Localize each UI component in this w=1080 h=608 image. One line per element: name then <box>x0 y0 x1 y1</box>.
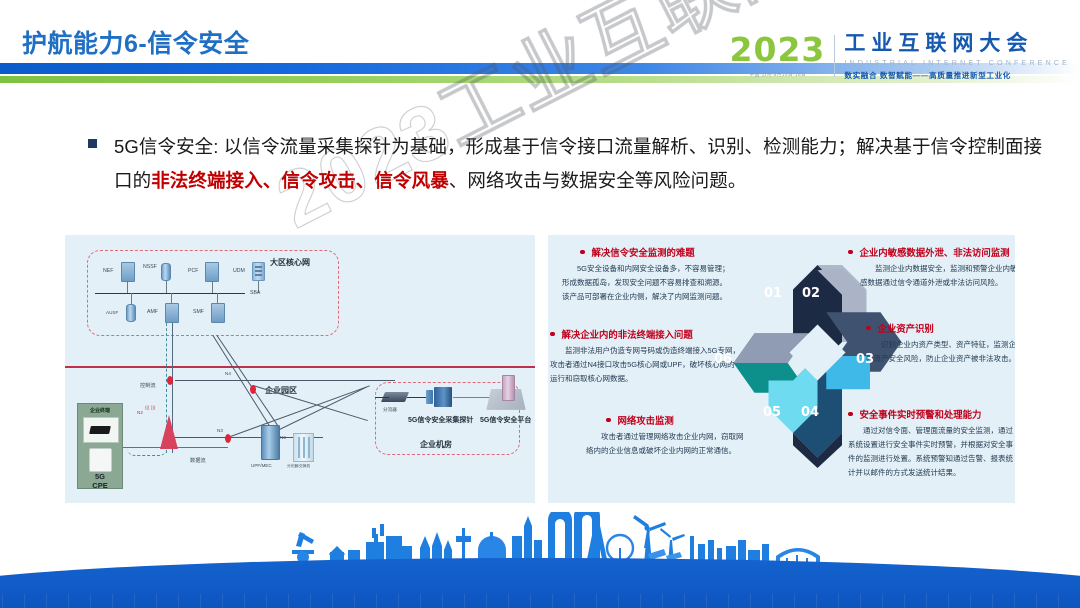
nef-node-icon <box>121 262 135 282</box>
feature-block-03: 企业资产识别 识别企业内资产类型、资产特征，监测企业内资产安全风险，防止企业资产… <box>866 321 1015 366</box>
data-flow-label: 数据流 <box>190 457 206 464</box>
platform-label: 5G信令安全平台 <box>480 415 531 425</box>
feature-05-head: 网络攻击监测 <box>586 413 746 427</box>
amf-bus-link <box>171 293 172 303</box>
logo-year-block: 2023 中国·苏州 8月14日-16日 <box>730 33 835 78</box>
sba-bus-line <box>95 293 245 294</box>
logo-year: 2023 <box>730 33 826 66</box>
pinwheel-number-03: 03 <box>856 352 874 367</box>
feature-02-head: 企业内敏感数据外泄、非法访问监测 <box>848 245 1015 259</box>
splitter-in-link <box>375 397 389 398</box>
footer-base <box>0 558 1080 608</box>
bullet-row: 5G信令安全: 以信令流量采集探针为基础，形成基于信令接口流量解析、识别、检测能… <box>88 130 1048 198</box>
n3-interface-label: N3 <box>217 428 223 433</box>
smf-node-icon <box>211 303 225 323</box>
feature-01-body: 5G安全设备和内网安全设备多，不容易管理；形成数据孤岛，发现安全问题不容易排查和… <box>562 262 730 304</box>
smf-n4-diagonal-link-2 <box>217 335 280 428</box>
bullet-square-icon <box>88 139 97 148</box>
feature-06-title: 解决企业内的非法终端接入问题 <box>562 327 693 341</box>
pinwheel-number-02: 02 <box>802 286 820 301</box>
n4-interface-label: N4 <box>225 371 231 376</box>
feature-block-04: 安全事件实时预警和处理能力 通过对信令面、管理面流量的安全监测，通过系统设置进行… <box>848 407 1015 480</box>
control-flow-label: 控制流 <box>140 382 156 389</box>
probe-device-icon <box>434 387 452 407</box>
nssf-label: NSSF <box>143 265 157 271</box>
feature-block-06: 解决企业内的非法终端接入问题 监测非法用户伪造专网号码或伪造终端接入5G专网，攻… <box>550 327 740 386</box>
pcf-label: PCF <box>188 268 198 274</box>
ausf-bus-link <box>131 293 132 304</box>
logo-separator <box>834 35 835 77</box>
logo-name-cn: 工业互联网大会 <box>844 33 1070 55</box>
bullet-dot-icon <box>848 250 853 255</box>
smf-n4-diagonal-link <box>213 335 272 429</box>
cpe-label: 5GCPE <box>78 473 122 490</box>
amf-node-icon <box>165 303 179 323</box>
upf-mec-label: UPF/MEC <box>251 463 272 468</box>
probe-label: 5G信令安全采集探针 <box>408 415 473 425</box>
bullet-dot-icon <box>606 418 611 423</box>
splitter-label: 分流器 <box>383 407 397 413</box>
feature-05-title: 网络攻击监测 <box>618 413 674 427</box>
bullet-text: 5G信令安全: 以信令流量采集探针为基础，形成基于信令接口流量解析、识别、检测能… <box>114 130 1048 198</box>
splitter-out-link <box>407 397 427 398</box>
n2-interface-label: N2 <box>137 410 143 415</box>
feature-03-title: 企业资产识别 <box>878 321 934 335</box>
split-device-label: 分光器/交换机 <box>287 464 310 469</box>
amf-label: AMF <box>147 309 158 315</box>
slide-root: 护航能力6-信令安全 2023 中国·苏州 8月14日-16日 工业互联网大会 … <box>0 0 1080 608</box>
probe-point-n4 <box>250 385 256 394</box>
split-device-icon <box>293 433 314 462</box>
smf-bus-link <box>217 293 218 303</box>
nssf-node-icon <box>161 263 171 281</box>
logo-name-en: INDUSTRIAL INTERNET CONFERENCE <box>844 58 1070 67</box>
pcf-node-icon <box>205 262 219 282</box>
udm-node-icon <box>252 262 265 281</box>
tower-signal-icon: ((( ))) <box>145 405 155 410</box>
feature-04-head: 安全事件实时预警和处理能力 <box>848 407 1015 421</box>
feature-06-body: 监测非法用户伪造专网号码或伪造终端接入5G专网，攻击者通过N4接口攻击5G核心网… <box>550 344 740 386</box>
enterprise-terminal-box: 企业终端 5GCPE <box>77 403 123 489</box>
nssf-bus-link <box>166 281 167 293</box>
pcf-bus-link <box>212 282 213 293</box>
camera-icon <box>83 417 119 443</box>
right-feature-panel: 01 02 03 04 05 06 解决信令安全监测的难题 5G安全设备和内网安… <box>548 235 1015 503</box>
smf-label: SMF <box>193 309 204 315</box>
probe-point-n3 <box>225 434 231 443</box>
pinwheel-number-06: 06 <box>714 352 732 367</box>
bullet-dot-icon <box>550 332 555 337</box>
logo-date: 中国·苏州 8月14日-16日 <box>749 71 806 78</box>
feature-block-05: 网络攻击监测 攻击者通过管理网络攻击企业内网，窃取网络内的企业信息或破坏企业内网… <box>586 413 746 458</box>
n6-interface-label: N6 <box>280 435 286 440</box>
feature-block-02: 企业内敏感数据外泄、非法访问监测 监测企业内数据安全，监测和预警企业内敏感数据通… <box>848 245 1015 290</box>
feature-03-head: 企业资产识别 <box>866 321 1015 335</box>
slide-footer <box>0 512 1080 608</box>
bullet-block: 5G信令安全: 以信令流量采集探针为基础，形成基于信令接口流量解析、识别、检测能… <box>88 130 1048 198</box>
bullet-highlight: 非法终端接入、信令攻击、信令风暴 <box>151 170 449 191</box>
enterprise-terminal-title: 企业终端 <box>78 407 122 414</box>
feature-02-body: 监测企业内数据安全，监测和预警企业内敏感数据通过信令通道外泄或非法访问风险。 <box>848 262 1015 290</box>
feature-05-body: 攻击者通过管理网络攻击企业内网，窃取网络内的企业信息或破坏企业内网的正常通信。 <box>586 430 746 458</box>
page-title: 护航能力6-信令安全 <box>22 24 249 60</box>
city-skyline-icon <box>0 512 1080 564</box>
room-zone-label: 企业机房 <box>420 439 452 450</box>
feature-04-title: 安全事件实时预警和处理能力 <box>860 407 982 421</box>
network-boundary-separator <box>65 366 535 368</box>
conference-logo: 2023 中国·苏州 8月14日-16日 工业互联网大会 INDUSTRIAL … <box>730 33 1070 81</box>
pinwheel-number-01: 01 <box>764 286 782 301</box>
bullet-dot-icon <box>848 412 853 417</box>
bullet-dot-icon <box>580 250 585 255</box>
feature-02-title: 企业内敏感数据外泄、非法访问监测 <box>860 245 1010 259</box>
n2-horizontal-link <box>175 380 395 381</box>
logo-text-block: 工业互联网大会 INDUSTRIAL INTERNET CONFERENCE 数… <box>844 33 1070 81</box>
bullet-segment-2: 、网络攻击与数据安全等风险问题。 <box>449 170 747 191</box>
udm-label: UDM <box>233 268 245 274</box>
feature-03-body: 识别企业内资产类型、资产特征，监测企业内资产安全风险，防止企业资产被非法攻击。 <box>866 338 1015 366</box>
bullet-dot-icon <box>866 326 871 331</box>
core-zone-label: 大区核心网 <box>270 257 310 268</box>
feature-04-body: 通过对信令面、管理面流量的安全监测，通过系统设置进行安全事件实时预警，并根据对安… <box>848 424 1015 480</box>
probe-small-icon <box>426 390 433 404</box>
mec-to-splitter-link <box>225 385 370 439</box>
pinwheel-number-05: 05 <box>763 405 781 420</box>
platform-server-icon <box>502 375 515 401</box>
left-diagram-panel: 大区核心网 NEF NSSF PCF UDM SBA AUSF AMF SMF <box>65 235 535 503</box>
cpe-device-icon <box>89 448 112 472</box>
nef-label: NEF <box>103 268 113 274</box>
ausf-node-icon <box>126 304 136 322</box>
upf-mec-icon <box>261 425 280 460</box>
feature-01-head: 解决信令安全监测的难题 <box>562 245 730 259</box>
ausf-label: AUSF <box>106 310 118 315</box>
pinwheel-number-04: 04 <box>801 405 819 420</box>
sba-label: SBA <box>250 290 260 296</box>
feature-01-title: 解决信令安全监测的难题 <box>592 245 695 259</box>
nef-bus-link <box>127 281 128 293</box>
footer-grid-pattern <box>0 594 1080 608</box>
logo-slogan: 数实融合 数智赋能——高质量推进新型工业化 <box>844 70 1070 81</box>
cpe-dashed-link <box>127 440 167 456</box>
feature-block-01: 解决信令安全监测的难题 5G安全设备和内网安全设备多，不容易管理；形成数据孤岛，… <box>562 245 730 304</box>
feature-06-head: 解决企业内的非法终端接入问题 <box>550 327 740 341</box>
probe-point-n2 <box>167 376 173 385</box>
